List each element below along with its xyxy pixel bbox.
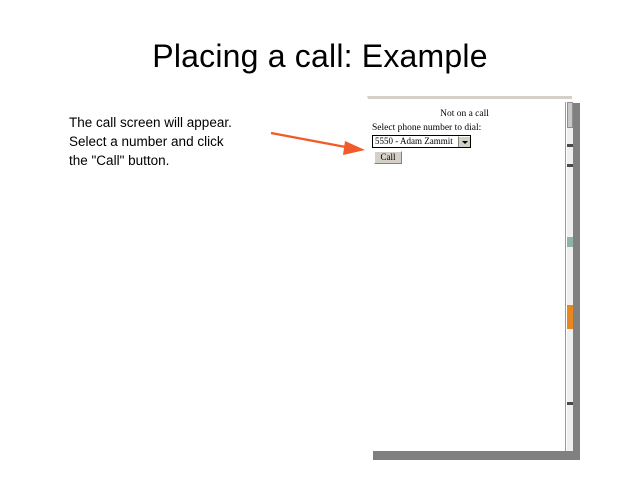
scrollbar-mark-1	[567, 144, 573, 147]
call-button[interactable]: Call	[374, 151, 402, 164]
scrollbar-track[interactable]	[567, 102, 573, 451]
embedded-screenshot: Not on a call Select phone number to dia…	[367, 96, 574, 454]
phone-number-selected-value: 5550 - Adam Zammit	[375, 136, 453, 147]
chevron-down-icon[interactable]	[458, 136, 470, 147]
scrollbar-mark-highlight	[567, 305, 573, 329]
body-text-line-1: The call screen will appear.	[69, 113, 289, 132]
call-screen-content: Not on a call Select phone number to dia…	[368, 102, 565, 451]
browser-window-frame: Not on a call Select phone number to dia…	[367, 96, 572, 451]
page-title: Placing a call: Example	[0, 38, 640, 75]
scrollbar-mark-3	[567, 237, 573, 247]
body-text-block: The call screen will appear. Select a nu…	[69, 113, 289, 170]
scrollbar-mark-2	[567, 164, 573, 167]
presentation-slide: Placing a call: Example The call screen …	[0, 0, 640, 480]
call-status-text: Not on a call	[368, 109, 561, 119]
dial-number-label: Select phone number to dial:	[372, 123, 481, 133]
scrollbar-thumb[interactable]	[567, 102, 573, 128]
body-text-line-2: Select a number and click	[69, 132, 289, 151]
phone-number-select[interactable]: 5550 - Adam Zammit	[372, 135, 471, 148]
body-text-line-3: the "Call" button.	[69, 151, 289, 170]
scrollbar-mark-4	[567, 402, 573, 405]
vertical-scrollbar[interactable]	[565, 102, 572, 451]
